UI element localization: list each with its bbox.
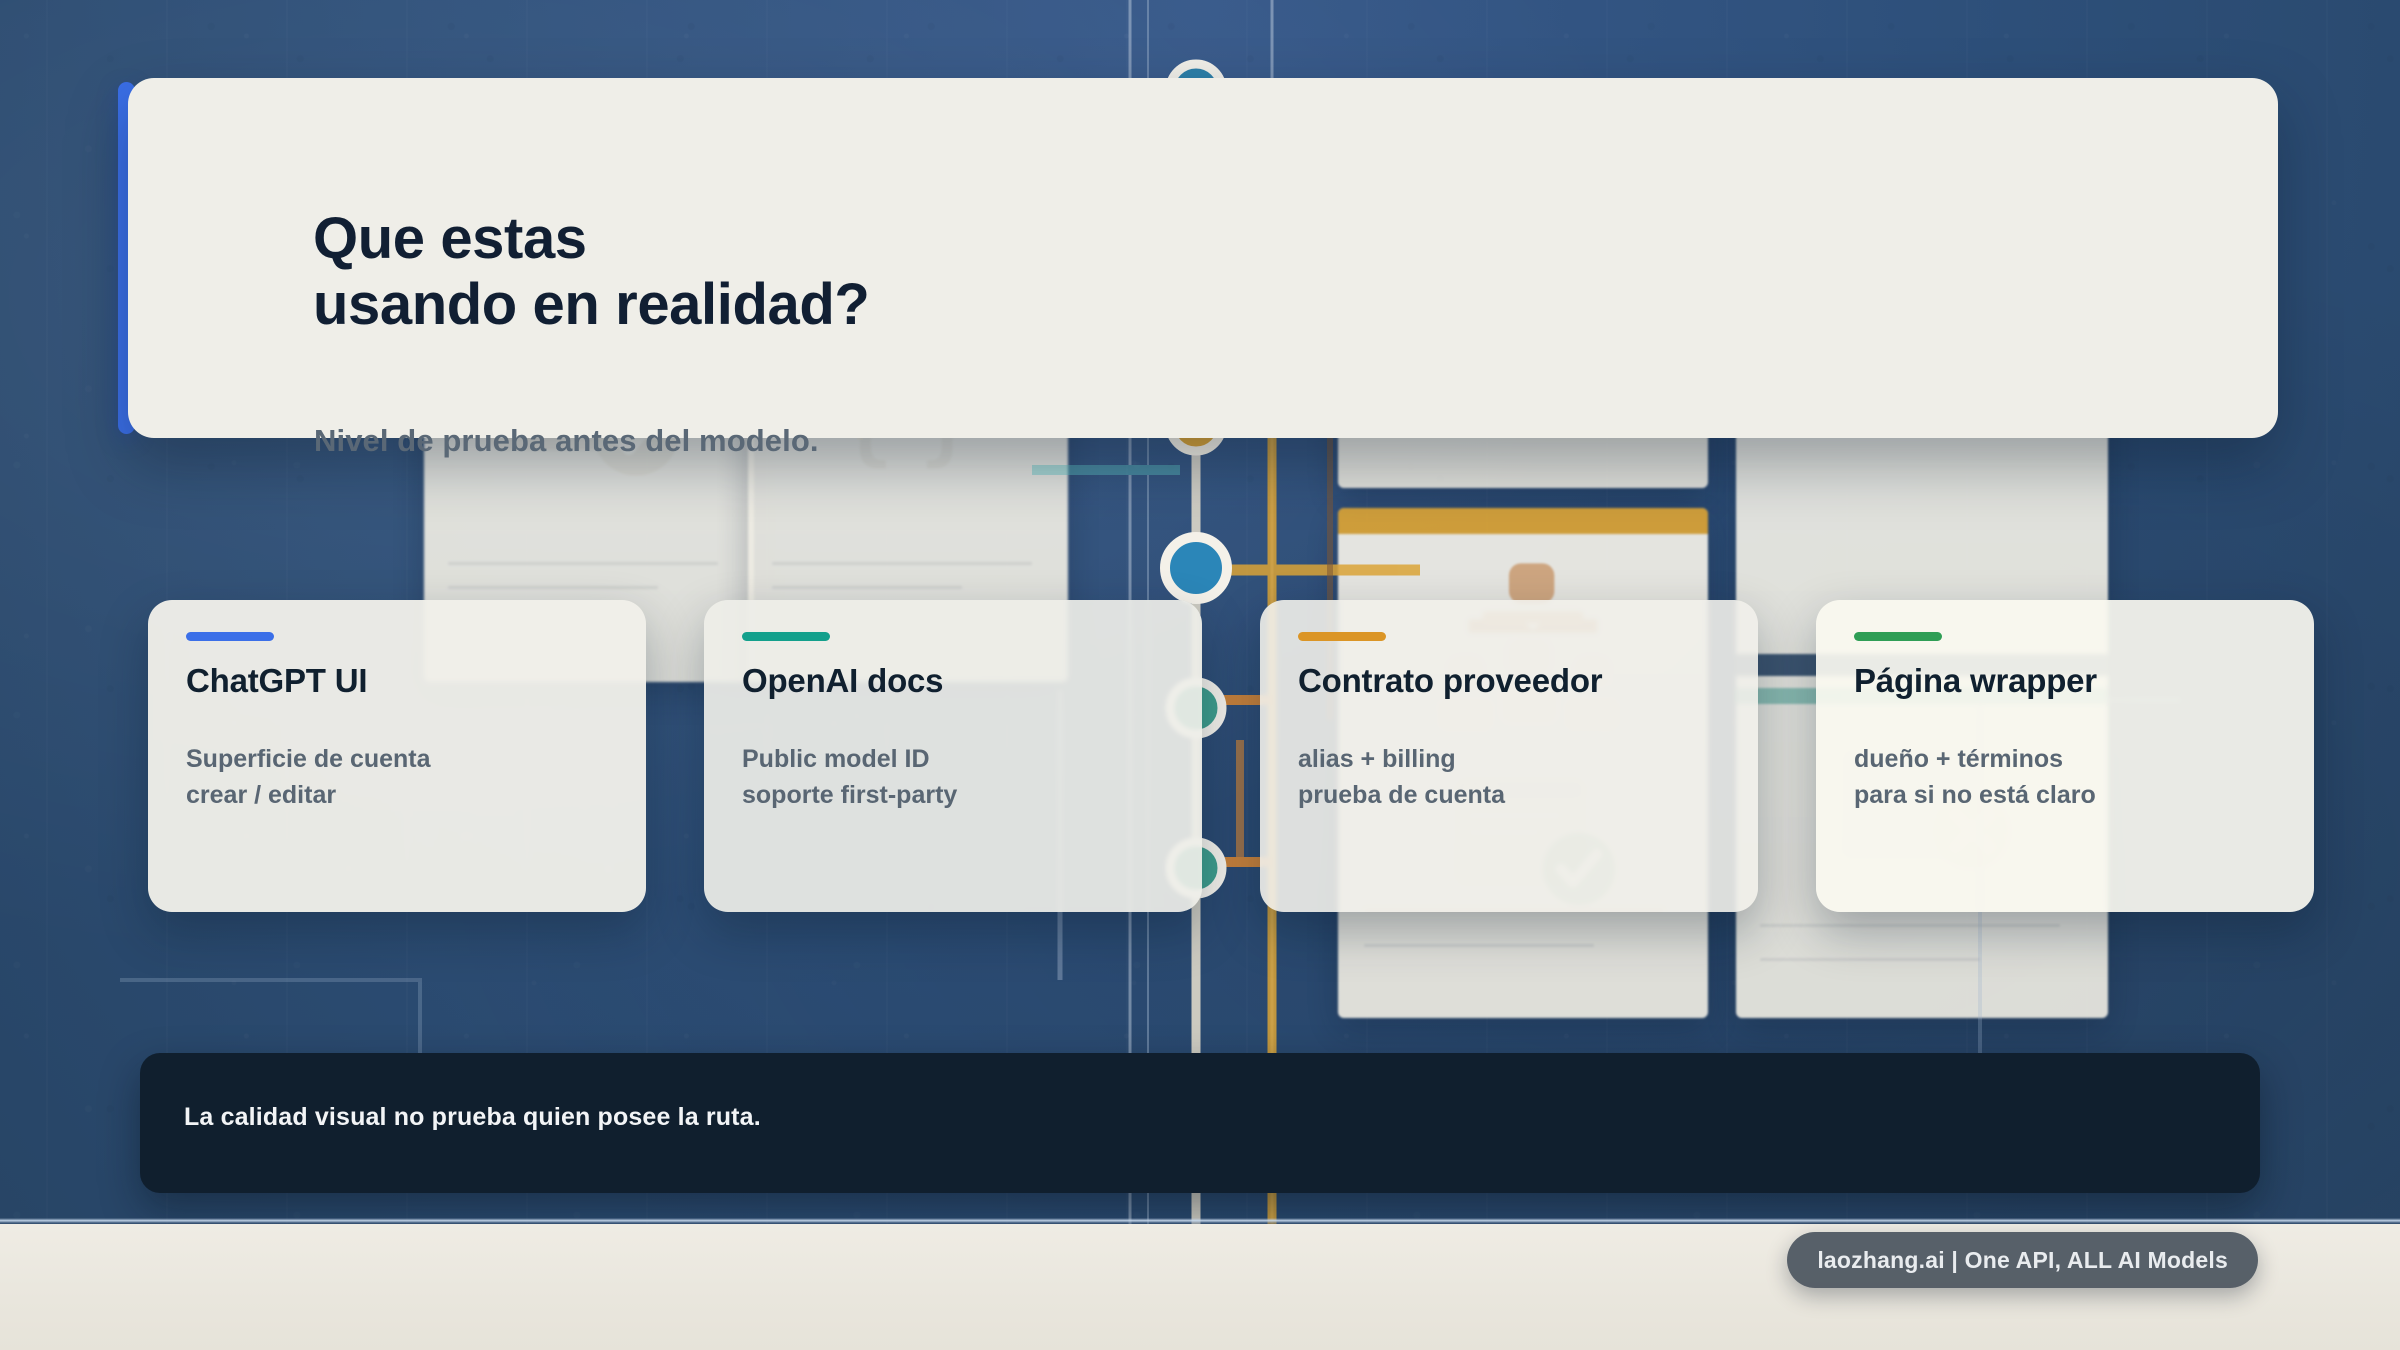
info-card-pagina-wrapper[interactable]: Página wrapper dueño + términos para si … [1816, 600, 2314, 912]
header-card: Que estas usando en realidad? Nivel de p… [128, 78, 2278, 438]
info-card-openai-docs[interactable]: OpenAI docs Public model ID soporte firs… [704, 600, 1202, 912]
card-title: Página wrapper [1854, 662, 2097, 700]
page-title: Que estas usando en realidad? [313, 206, 1713, 338]
slide-stage: { } [0, 0, 2400, 1350]
bottom-banner: La calidad visual no prueba quien posee … [140, 1053, 2260, 1193]
info-card-contrato-proveedor[interactable]: Contrato proveedor alias + billing prueb… [1260, 600, 1758, 912]
brand-badge[interactable]: laozhang.ai | One API, ALL AI Models [1787, 1232, 2258, 1288]
card-body: dueño + términos para si no está claro [1854, 742, 2096, 813]
card-body: alias + billing prueba de cuenta [1298, 742, 1505, 813]
banner-text: La calidad visual no prueba quien posee … [184, 1103, 761, 1132]
card-accent-bar [186, 632, 274, 641]
card-title: Contrato proveedor [1298, 662, 1602, 700]
card-accent-bar [1854, 632, 1942, 641]
card-accent-bar [1298, 632, 1386, 641]
page-subtitle: Nivel de prueba antes del modelo. [314, 423, 819, 459]
card-accent-bar [742, 632, 830, 641]
card-body: Superficie de cuenta crear / editar [186, 742, 431, 813]
card-body: Public model ID soporte first-party [742, 742, 957, 813]
card-title: OpenAI docs [742, 662, 943, 700]
card-title: ChatGPT UI [186, 662, 367, 700]
info-card-chatgpt-ui[interactable]: ChatGPT UI Superficie de cuenta crear / … [148, 600, 646, 912]
